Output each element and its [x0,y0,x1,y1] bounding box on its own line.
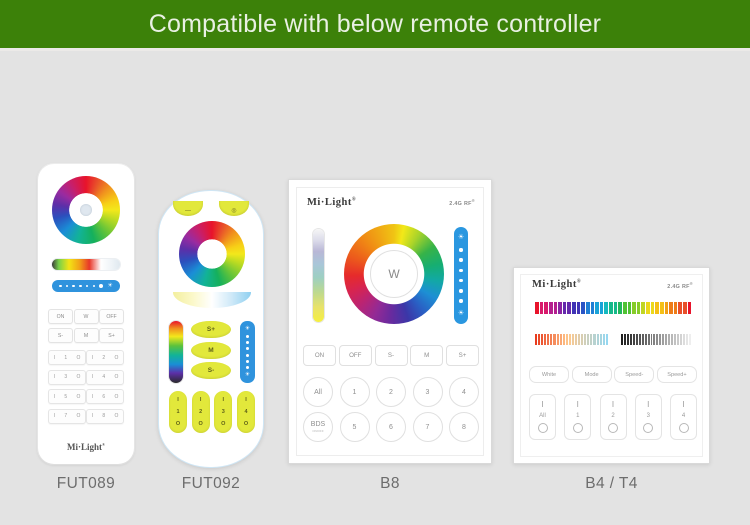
zone-label: 3 [426,389,430,396]
device-fut092: — ◎ S+ M S- ☀ [158,190,264,468]
devices-stage: ☀ ON W OFF S- M S+ I 1 [0,51,750,525]
strip-segment[interactable] [577,302,581,314]
fut092-key-speed-down[interactable]: S- [191,362,231,379]
strip-segment[interactable] [600,302,604,314]
strip-segment[interactable] [668,334,670,345]
zone-number: 3 [64,374,67,380]
zone-on-icon: I [92,413,93,419]
brand-text: Mi·Light [67,442,102,452]
fut089-zone-row: I 3 O I 4 O [48,370,124,385]
strip-segment[interactable] [609,302,613,314]
rf-text: 2.4G RF [667,284,689,290]
strip-segment[interactable] [569,334,571,345]
strip-segment[interactable] [587,334,589,345]
strip-segment[interactable] [535,334,537,345]
zone-label: All [539,413,546,419]
fut089-zone-6[interactable]: I 6 O [86,389,124,404]
brightness-slider[interactable]: ☀ [52,280,120,292]
fut089-zone-row: I 5 O I 6 O [48,389,124,404]
b8-zone-5[interactable]: 5 [340,412,370,442]
strip-segment[interactable] [586,302,590,314]
fut089-key-row-1: ON W OFF [48,309,124,324]
zone-off-icon: O [176,421,180,427]
zone-label: 1 [353,389,357,396]
zone-label: 2 [611,413,614,419]
zone-on-icon: I [92,394,93,400]
zone-on-icon: I [54,413,55,419]
zone-off-icon [643,423,653,433]
strip-segment[interactable] [597,334,599,345]
slider-dot-icon [459,248,462,251]
b4-zone-all[interactable]: I All [529,394,556,440]
b8-zone-row-1: All 1 2 3 4 [303,377,479,407]
fut089-zone-2[interactable]: I 2 O [86,350,124,365]
slider-dot-icon [459,279,462,282]
strip-segment[interactable] [618,302,622,314]
zone-label: 3 [647,413,650,419]
fut089-key-off[interactable]: OFF [99,309,124,324]
strip-segment[interactable] [544,302,548,314]
slider-dot-icon [459,269,462,272]
fut089-zone-8[interactable]: I 8 O [86,409,124,424]
strip-segment[interactable] [651,334,653,345]
strip-segment[interactable] [566,334,568,345]
strip-segment[interactable] [572,302,576,314]
strip-segment[interactable] [645,334,647,345]
caption-fut089: FUT089 [38,475,134,493]
registered-mark: ® [352,198,356,203]
rf-text: 2.4G RF [449,201,471,207]
zone-off-icon: O [199,421,203,427]
zone-number: 5 [64,394,67,400]
zone-off-icon: O [221,421,225,427]
zone-off-icon: O [114,413,118,419]
fut089-keypad: ON W OFF S- M S+ [48,309,124,347]
b4-brand-logo: Mi·Light® [532,279,581,290]
strip-segment[interactable] [584,334,586,345]
sun-icon: ☀ [458,234,464,241]
slider-dot-icon [246,341,249,344]
strip-segment[interactable] [671,334,673,345]
strip-segment[interactable] [641,302,645,314]
strip-segment[interactable] [538,334,540,345]
zone-on-icon: I [541,401,543,409]
fut089-zone-4[interactable]: I 4 O [86,370,124,385]
b8-key-on[interactable]: ON [303,345,336,366]
strip-segment[interactable] [669,302,673,314]
white-temperature-strip-slider[interactable] [535,334,608,345]
fut092-top-buttons: — ◎ [173,201,249,216]
strip-segment[interactable] [633,334,635,345]
zone-off-icon: O [114,355,118,361]
strip-segment[interactable] [600,334,602,345]
zone-number: 2 [102,355,105,361]
registered-mark: ® [690,281,693,286]
fut089-zone-row: I 7 O I 8 O [48,409,124,424]
fut092-zone-1[interactable]: I 1 O [169,391,187,433]
strip-segment[interactable] [606,334,608,345]
strip-segment[interactable] [683,334,685,345]
zone-off-icon: O [76,413,80,419]
strip-segment[interactable] [632,302,636,314]
strip-segment[interactable] [624,334,626,345]
b8-rf-label: 2.4G RF® [449,198,475,207]
fut089-key-speed-down[interactable]: S- [48,328,73,343]
zone-on-icon: I [177,397,179,403]
fut089-key-row-2: S- M S+ [48,328,124,343]
strip-segment[interactable] [604,302,608,314]
strip-segment[interactable] [627,334,629,345]
strip-segment[interactable] [563,334,565,345]
zone-label: 7 [426,424,430,431]
slider-dot-icon [79,285,81,287]
zone-on-icon: I [54,355,55,361]
b8-key-mode[interactable]: M [410,345,443,366]
b8-key-row: ON OFF S- M S+ [303,345,479,366]
strip-segment[interactable] [550,334,552,345]
strip-segment[interactable] [541,334,543,345]
strip-segment[interactable] [553,334,555,345]
b4-key-mode[interactable]: Mode [572,366,612,383]
strip-segment[interactable] [628,302,632,314]
strip-segment[interactable] [660,302,664,314]
color-wheel-center[interactable] [80,204,92,216]
slider-dot-icon [246,347,249,350]
device-fut089: ☀ ON W OFF S- M S+ I 1 [38,164,134,464]
strip-segment[interactable] [540,302,544,314]
fut089-key-speed-up[interactable]: S+ [99,328,124,343]
b8-key-off[interactable]: OFF [339,345,372,366]
zone-off-icon: O [114,374,118,380]
strip-segment[interactable] [680,334,682,345]
zone-label: 2 [389,389,393,396]
zone-label: 6 [389,424,393,431]
fut092-speed-buttons: S+ M S- [191,321,231,383]
color-saturation-slider[interactable] [169,321,183,383]
slider-dot-icon [459,299,462,302]
zone-off-icon: O [76,394,80,400]
device-b4t4: Mi·Light® 2.4G RF® White Mode Speed- Spe… [513,267,710,464]
strip-segment[interactable] [639,334,641,345]
strip-segment[interactable] [535,302,539,314]
strip-segment[interactable] [544,334,546,345]
strip-segment[interactable] [595,302,599,314]
strip-segment[interactable] [655,302,659,314]
zone-label: 5 [353,424,357,431]
brand-text: Mi·Light [307,197,352,208]
fut089-key-w[interactable]: W [74,309,99,324]
b8-zone-8[interactable]: 8 [449,412,479,442]
color-wheel-icon[interactable]: W [344,224,444,324]
slider-dot-icon [86,285,88,287]
b4-key-row: White Mode Speed- Speed+ [529,366,697,383]
color-wheel-icon[interactable] [179,221,245,287]
strip-segment[interactable] [630,334,632,345]
zone-label: 4 [462,389,466,396]
strip-segment[interactable] [590,334,592,345]
strip-segment[interactable] [665,302,669,314]
zone-number: 6 [102,394,105,400]
fut089-brand-logo: Mi·Light® [38,442,134,452]
strip-segment[interactable] [659,334,661,345]
page-root: Compatible with below remote controller … [0,0,750,525]
zone-number: 1 [64,355,67,361]
strip-segment[interactable] [578,334,580,345]
fut089-zone-grid: I 1 O I 2 O I 3 O [48,350,124,428]
b8-zone-1[interactable]: 1 [340,377,370,407]
strip-segment[interactable] [621,334,623,345]
registered-mark: ® [577,280,581,285]
fut089-key-mode[interactable]: M [74,328,99,343]
strip-segment[interactable] [572,334,574,345]
registered-mark: ® [102,442,105,447]
fut092-zone-2[interactable]: I 2 O [192,391,210,433]
zone-on-icon: I [647,401,649,409]
slider-dot-icon [93,285,95,287]
zone-label: All [314,389,322,396]
slider-dot-icon [99,284,103,288]
b4-zone-1[interactable]: I 1 [564,394,591,440]
b4-zone-row: I All I 1 I 2 I 3 [529,394,697,440]
zone-off-icon [608,423,618,433]
zone-off-icon: O [76,374,80,380]
slider-dot-icon [459,289,462,292]
b8-zone-7[interactable]: 7 [413,412,443,442]
strip-segment[interactable] [662,334,664,345]
zone-off-icon: O [244,421,248,427]
color-wheel-icon[interactable] [52,176,120,244]
strip-segment[interactable] [674,302,678,314]
strip-segment[interactable] [603,334,605,345]
strip-segment[interactable] [689,334,691,345]
slider-dot-icon [246,360,249,363]
slider-dot-icon [66,285,68,287]
b8-zone-3[interactable]: 3 [413,377,443,407]
strip-segment[interactable] [567,302,571,314]
strip-segment[interactable] [656,334,658,345]
strip-segment[interactable] [593,334,595,345]
sun-icon: ☀ [458,310,464,317]
strip-segment[interactable] [591,302,595,314]
fut089-zone-7[interactable]: I 7 O [48,409,86,424]
zone-off-icon [538,423,548,433]
fut092-zone-row: I 1 O I 2 O I 3 O I 4 O [169,391,255,433]
strip-segment[interactable] [575,334,577,345]
zone-number: 8 [102,413,105,419]
strip-segment[interactable] [614,302,618,314]
b8-bds-button[interactable]: BDS ON/OFF [303,412,333,442]
brightness-slider[interactable]: ☀ ☀ [454,227,468,324]
strip-segment[interactable] [677,334,679,345]
zone-label: 1 [576,413,579,419]
slider-dot-icon [246,354,249,357]
device-b8: Mi·Light® 2.4G RF® W ☀ ☀ ON OFF [288,179,492,464]
fut092-key-speed-up[interactable]: S+ [191,321,231,338]
b4-key-white[interactable]: White [529,366,569,383]
page-header: Compatible with below remote controller [0,0,750,48]
zone-on-icon: I [54,374,55,380]
fut092-white-arc-slider[interactable] [173,292,251,308]
b8-key-speed-up[interactable]: S+ [446,345,479,366]
strip-segment[interactable] [651,302,655,314]
slider-dot-icon [72,285,74,287]
zone-off-icon: O [114,394,118,400]
strip-segment[interactable] [581,302,585,314]
zone-on-icon: I [92,374,93,380]
b4-key-speed-up[interactable]: Speed+ [657,366,697,383]
strip-segment[interactable] [581,334,583,345]
strip-segment[interactable] [557,334,559,345]
fut092-button-on[interactable]: ◎ [219,201,249,216]
b8-zone-row-2: BDS ON/OFF 5 6 7 8 [303,412,479,442]
caption-b8: B8 [288,475,492,493]
fut092-button-off[interactable]: — [173,201,203,216]
zone-on-icon: I [223,397,225,403]
strip-segment[interactable] [636,334,638,345]
fut092-key-mode[interactable]: M [191,342,231,359]
strip-segment[interactable] [623,302,627,314]
strip-segment[interactable] [637,302,641,314]
zone-on-icon: I [612,401,614,409]
page-title: Compatible with below remote controller [149,10,601,39]
b8-zone-all[interactable]: All [303,377,333,407]
strip-segment[interactable] [648,334,650,345]
caption-b4t4: B4 / T4 [513,475,710,493]
zone-number: 2 [199,409,202,415]
sun-icon: ☀ [107,283,112,289]
fut089-zone-row: I 1 O I 2 O [48,350,124,365]
strip-segment[interactable] [642,334,644,345]
strip-segment[interactable] [665,334,667,345]
strip-segment[interactable] [563,302,567,314]
strip-segment[interactable] [683,302,687,314]
strip-segment[interactable] [678,302,682,314]
strip-segment[interactable] [558,302,562,314]
strip-segment[interactable] [560,334,562,345]
b8-zone-6[interactable]: 6 [376,412,406,442]
fut092-middle-controls: S+ M S- ☀ ☀ [169,321,255,383]
fut092-zone-3[interactable]: I 3 O [214,391,232,433]
strip-segment[interactable] [547,334,549,345]
zone-number: 3 [222,409,225,415]
zone-on-icon: I [92,355,93,361]
zone-on-icon: I [245,397,247,403]
strip-segment[interactable] [686,334,688,345]
white-mode-button[interactable]: W [370,250,418,298]
b4-rf-label: 2.4G RF® [667,281,693,290]
zone-on-icon: I [577,401,579,409]
b4-zone-2[interactable]: I 2 [600,394,627,440]
brightness-slider[interactable]: ☀ ☀ [240,321,255,383]
zone-on-icon: I [54,394,55,400]
brand-text: Mi·Light [532,279,577,290]
b8-key-speed-down[interactable]: S- [375,345,408,366]
b4-zone-3[interactable]: I 3 [635,394,662,440]
strip-segment[interactable] [549,302,553,314]
zone-number: 7 [64,413,67,419]
brightness-strip-slider[interactable] [621,334,691,345]
zone-off-icon [679,423,689,433]
b4-key-speed-down[interactable]: Speed- [614,366,654,383]
strip-segment[interactable] [653,334,655,345]
fut089-key-on[interactable]: ON [48,309,73,324]
strip-segment[interactable] [688,302,692,314]
slider-dot-icon [59,285,61,287]
zone-sublabel: ON/OFF [312,429,323,433]
slider-dot-icon [246,366,249,369]
slider-dot-icon [246,335,249,338]
color-temperature-slider[interactable] [313,229,324,322]
b4-zone-4[interactable]: I 4 [670,394,697,440]
zone-number: 4 [244,409,247,415]
zone-label: BDS [311,421,325,428]
b8-zone-2[interactable]: 2 [376,377,406,407]
zone-on-icon: I [200,397,202,403]
color-temperature-slider[interactable] [52,259,120,270]
b8-zone-4[interactable]: 4 [449,377,479,407]
strip-segment[interactable] [674,334,676,345]
sun-icon: ☀ [245,326,250,332]
registered-mark: ® [472,198,475,203]
zone-number: 4 [102,374,105,380]
strip-segment[interactable] [554,302,558,314]
zone-off-icon [573,423,583,433]
sun-icon: ☀ [245,372,250,378]
slider-dot-icon [459,258,462,261]
b8-brand-logo: Mi·Light® [307,197,356,208]
zone-label: 4 [682,413,685,419]
caption-fut092: FUT092 [158,475,264,493]
fut089-zone-3[interactable]: I 3 O [48,370,86,385]
strip-segment[interactable] [646,302,650,314]
zone-off-icon: O [76,355,80,361]
fut089-zone-1[interactable]: I 1 O [48,350,86,365]
zone-on-icon: I [682,401,684,409]
zone-number: 1 [176,409,179,415]
color-strip-slider[interactable] [535,302,691,314]
fut092-zone-4[interactable]: I 4 O [237,391,255,433]
fut089-zone-5[interactable]: I 5 O [48,389,86,404]
zone-label: 8 [462,424,466,431]
